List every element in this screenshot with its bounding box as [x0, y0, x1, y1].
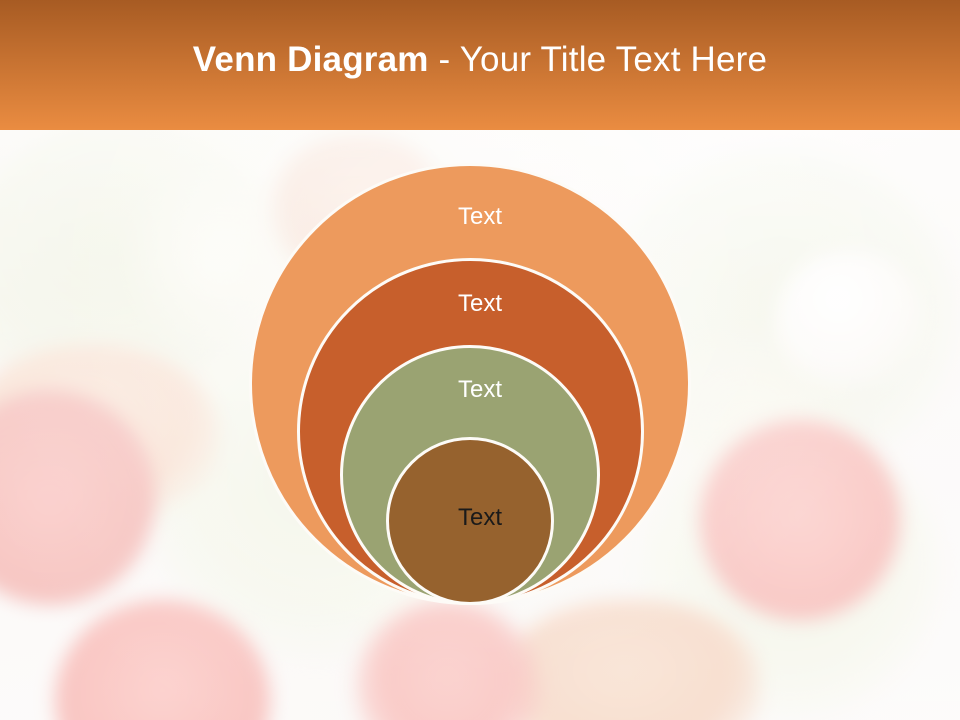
page-title-rest: Your Title Text Here — [460, 40, 768, 79]
slide-canvas: Venn Diagram - Your Title Text Here Text… — [0, 0, 960, 720]
page-title: Venn Diagram - Your Title Text Here — [0, 36, 960, 84]
page-title-separator: - — [429, 40, 460, 79]
venn-ring-4-label[interactable]: Text — [0, 504, 960, 532]
venn-ring-2-label[interactable]: Text — [0, 290, 960, 318]
header-bar: Venn Diagram - Your Title Text Here — [0, 0, 960, 130]
venn-ring-3-label[interactable]: Text — [0, 376, 960, 404]
venn-ring-1-label[interactable]: Text — [0, 203, 960, 231]
page-title-strong: Venn Diagram — [193, 40, 429, 79]
